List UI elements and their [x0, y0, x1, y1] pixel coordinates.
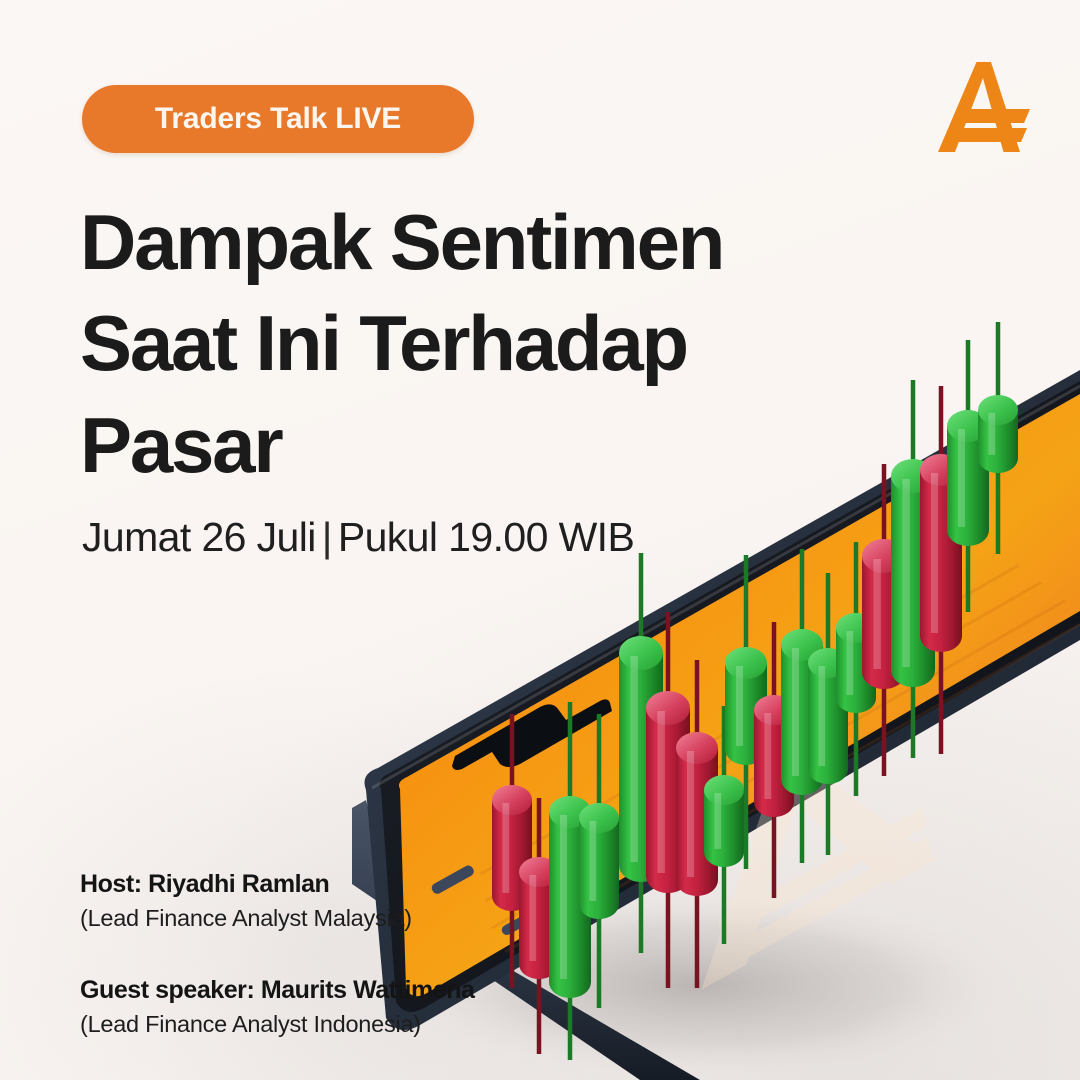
candle-body — [808, 663, 848, 784]
page-title: Dampak Sentimen Saat Ini Terhadap Pasar — [80, 192, 820, 496]
candle-highlight — [714, 793, 721, 849]
candle-body — [754, 710, 794, 817]
candlestick — [725, 555, 767, 869]
candlestick — [754, 622, 794, 898]
headline-line-1: Dampak Sentimen — [80, 192, 820, 293]
credits-block: Host: Riyadhi Ramlan (Lead Finance Analy… — [80, 868, 475, 1040]
live-badge[interactable]: Traders Talk LIVE — [82, 85, 474, 153]
candle-body — [920, 470, 962, 652]
screen-scanlines — [470, 530, 1080, 952]
candlestick — [579, 714, 619, 1008]
candle-cap — [519, 857, 559, 887]
candle-cap — [862, 539, 906, 573]
candle-body — [492, 800, 532, 911]
candle-highlight — [818, 666, 825, 766]
candlestick — [947, 340, 989, 612]
candlestick — [781, 549, 823, 863]
candle-highlight — [589, 821, 596, 901]
phone-power-button — [500, 898, 559, 937]
host-role: (Lead Finance Analyst Malaysia) — [80, 903, 475, 934]
candle-cap — [492, 785, 532, 815]
brand-logo[interactable] — [934, 58, 1038, 156]
schedule-time: Pukul 19.00 WIB — [338, 514, 634, 560]
candlestick — [808, 573, 848, 855]
candle-body — [947, 426, 989, 546]
candle-cap — [781, 629, 823, 661]
schedule-date: Jumat 26 Juli — [82, 514, 316, 560]
candle-highlight — [736, 666, 743, 746]
candlestick — [836, 542, 876, 796]
candle-highlight — [958, 429, 965, 527]
host-credit: Host: Riyadhi Ramlan (Lead Finance Analy… — [80, 868, 475, 934]
poster-canvas: Traders Talk LIVE Dampak Sentimen Saat I… — [0, 0, 1080, 1080]
candlestick — [862, 464, 906, 776]
guest-name: Guest speaker: Maurits Wattimena — [80, 974, 475, 1006]
candle-highlight — [687, 751, 694, 877]
candle-body — [549, 812, 591, 998]
candle-highlight — [873, 559, 880, 669]
candle-cap — [754, 695, 794, 725]
phone-notch — [452, 699, 612, 770]
candle-body — [676, 748, 718, 896]
candle-highlight — [902, 479, 909, 667]
candle-cap — [808, 648, 848, 678]
candlestick — [619, 553, 663, 953]
candle-body — [619, 653, 663, 882]
headline-line-3: Pasar — [80, 395, 820, 496]
schedule-line: Jumat 26 Juli|Pukul 19.00 WIB — [82, 514, 634, 561]
host-name: Host: Riyadhi Ramlan — [80, 868, 475, 900]
candle-cap — [579, 803, 619, 833]
candle-highlight — [657, 711, 664, 873]
candle-cap — [619, 636, 663, 670]
candlestick — [978, 322, 1018, 554]
guest-role: (Lead Finance Analyst Indonesia) — [80, 1009, 475, 1040]
candle-highlight — [529, 875, 536, 961]
candlestick — [676, 660, 718, 988]
candle-body — [519, 872, 559, 979]
candle-cap — [549, 796, 591, 828]
candle-highlight — [931, 473, 938, 633]
candle-cap — [920, 454, 962, 486]
candle-cap — [725, 647, 767, 679]
candlestick — [492, 714, 532, 988]
schedule-separator: | — [316, 514, 338, 560]
candlestick — [646, 612, 690, 988]
candle-cap — [836, 613, 876, 643]
candle-cap — [947, 410, 989, 442]
headline-line-2: Saat Ini Terhadap — [80, 293, 820, 394]
candle-highlight — [846, 631, 853, 695]
live-badge-label: Traders Talk LIVE — [155, 104, 401, 134]
candle-cap — [978, 395, 1018, 425]
candle-highlight — [792, 648, 799, 776]
candle-highlight — [764, 713, 771, 799]
candle-highlight — [630, 656, 637, 862]
candlestick — [920, 386, 962, 754]
candle-highlight — [560, 815, 567, 979]
candle-cap — [646, 691, 690, 725]
candle-body — [704, 790, 744, 867]
candle-body — [646, 708, 690, 893]
guest-credit: Guest speaker: Maurits Wattimena (Lead F… — [80, 974, 475, 1040]
candle-body — [725, 663, 767, 765]
candle-highlight — [502, 803, 509, 893]
candle-highlight — [988, 413, 995, 455]
candlestick — [549, 702, 591, 1060]
candlestick — [704, 706, 744, 944]
screen-watermark-a-icon — [672, 708, 937, 990]
candle-body — [891, 476, 935, 687]
candle-body — [862, 556, 906, 689]
candle-body — [978, 410, 1018, 473]
candle-cap — [676, 732, 718, 764]
candle-cap — [704, 775, 744, 805]
candle-cap — [891, 459, 935, 493]
candle-body — [579, 818, 619, 919]
candle-body — [836, 628, 876, 713]
anova-a-logo-icon — [934, 58, 1038, 156]
candle-body — [781, 645, 823, 795]
candlestick — [519, 798, 559, 1054]
candlestick — [891, 380, 935, 758]
